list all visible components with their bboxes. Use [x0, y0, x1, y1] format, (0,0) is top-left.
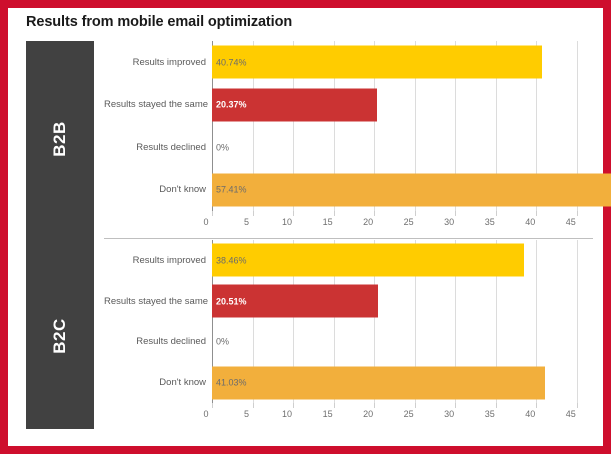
bar-rows: Results improved40.74%Results stayed the… — [104, 41, 593, 211]
x-axis-tick — [253, 211, 254, 216]
x-axis-tick-label: 35 — [485, 217, 495, 227]
x-axis-tick — [334, 403, 335, 408]
x-axis-tick-label: 25 — [404, 409, 414, 419]
x-axis-tick — [293, 211, 294, 216]
bar-row: Don't know57.41% — [104, 169, 593, 212]
chart-b2c: Results improved38.46%Results stayed the… — [104, 240, 593, 429]
bar-category-label: Results declined — [104, 142, 212, 153]
x-axis-tick-label: 0 — [203, 217, 208, 227]
chart-frame: Results from mobile email optimization B… — [0, 0, 611, 454]
x-axis-tick — [536, 403, 537, 408]
x-axis-tick — [415, 403, 416, 408]
bar-track: 40.74% — [212, 41, 593, 84]
bar-row: Results declined0% — [104, 322, 593, 363]
x-axis-tick-label: 0 — [203, 409, 208, 419]
bar-row: Don't know41.03% — [104, 362, 593, 403]
category-label-b2b-text: B2B — [50, 121, 70, 157]
x-axis-tick — [496, 211, 497, 216]
x-axis-tick — [455, 403, 456, 408]
x-axis-tick-label: 10 — [282, 217, 292, 227]
bar-track: 0% — [212, 322, 593, 363]
x-axis-tick-label: 20 — [363, 217, 373, 227]
x-axis-tick-label: 35 — [485, 409, 495, 419]
bar-category-label: Results improved — [104, 57, 212, 68]
bar[interactable]: 41.03% — [212, 366, 545, 399]
category-panel: B2B B2C — [26, 41, 94, 429]
chart-b2b: Results improved40.74%Results stayed the… — [104, 41, 593, 237]
x-axis-tick — [496, 403, 497, 408]
bar-rows: Results improved38.46%Results stayed the… — [104, 240, 593, 403]
x-axis-tick-label: 20 — [363, 409, 373, 419]
bar-category-label: Don't know — [104, 377, 212, 388]
x-axis: 051015202530354045 — [212, 211, 593, 237]
bar-value-label: 0% — [212, 142, 229, 152]
chart-divider — [104, 238, 593, 239]
x-axis-tick — [577, 403, 578, 408]
x-axis-tick — [374, 211, 375, 216]
bar-value-label: 57.41% — [212, 185, 247, 195]
bar-row: Results stayed the same20.51% — [104, 281, 593, 322]
x-axis-tick-label: 15 — [323, 217, 333, 227]
x-axis-tick-label: 15 — [323, 409, 333, 419]
x-axis-tick-label: 10 — [282, 409, 292, 419]
category-label-b2c: B2C — [26, 326, 94, 346]
bar-row: Results declined0% — [104, 126, 593, 169]
bar-value-label: 0% — [212, 337, 229, 347]
bar-value-label: 38.46% — [212, 255, 247, 265]
category-label-b2c-text: B2C — [50, 318, 70, 354]
bar[interactable]: 57.41% — [212, 173, 611, 206]
chart-canvas: Results from mobile email optimization B… — [8, 8, 603, 446]
x-axis-tick-label: 5 — [244, 409, 249, 419]
bar-row: Results improved38.46% — [104, 240, 593, 281]
x-axis-tick — [577, 211, 578, 216]
bar-track: 38.46% — [212, 240, 593, 281]
bar-track: 41.03% — [212, 362, 593, 403]
bar-category-label: Results declined — [104, 336, 212, 347]
bar-track: 20.37% — [212, 84, 593, 127]
x-axis-tick — [212, 403, 213, 408]
x-axis-tick — [536, 211, 537, 216]
x-axis-tick — [334, 211, 335, 216]
bar-value-label: 40.74% — [212, 57, 247, 67]
bar[interactable]: 38.46% — [212, 244, 524, 277]
x-axis-tick — [253, 403, 254, 408]
x-axis-tick-label: 40 — [525, 217, 535, 227]
x-axis-tick — [374, 403, 375, 408]
bar-category-label: Don't know — [104, 184, 212, 195]
bar-value-label: 20.51% — [212, 296, 247, 306]
x-axis-tick-label: 40 — [525, 409, 535, 419]
bar-value-label: 20.37% — [212, 100, 247, 110]
x-axis-tick-label: 5 — [244, 217, 249, 227]
x-axis: 051015202530354045 — [212, 403, 593, 429]
x-axis-tick-label: 30 — [444, 409, 454, 419]
bar-row: Results stayed the same20.37% — [104, 84, 593, 127]
bar-value-label: 41.03% — [212, 378, 247, 388]
bar-category-label: Results stayed the same — [104, 296, 212, 307]
category-label-b2b: B2B — [26, 129, 94, 149]
page-title: Results from mobile email optimization — [26, 14, 292, 30]
bar[interactable]: 20.37% — [212, 88, 377, 121]
bar-track: 57.41% — [212, 169, 593, 212]
x-axis-tick-label: 30 — [444, 217, 454, 227]
x-axis-tick — [415, 211, 416, 216]
x-axis-tick-label: 45 — [566, 409, 576, 419]
bar-category-label: Results stayed the same — [104, 99, 212, 110]
x-axis-tick-label: 25 — [404, 217, 414, 227]
bar[interactable]: 20.51% — [212, 285, 378, 318]
bar[interactable]: 40.74% — [212, 46, 542, 79]
x-axis-tick — [293, 403, 294, 408]
x-axis-tick — [212, 211, 213, 216]
bar-row: Results improved40.74% — [104, 41, 593, 84]
bar-track: 20.51% — [212, 281, 593, 322]
bar-category-label: Results improved — [104, 255, 212, 266]
x-axis-tick — [455, 211, 456, 216]
bar-track: 0% — [212, 126, 593, 169]
x-axis-tick-label: 45 — [566, 217, 576, 227]
